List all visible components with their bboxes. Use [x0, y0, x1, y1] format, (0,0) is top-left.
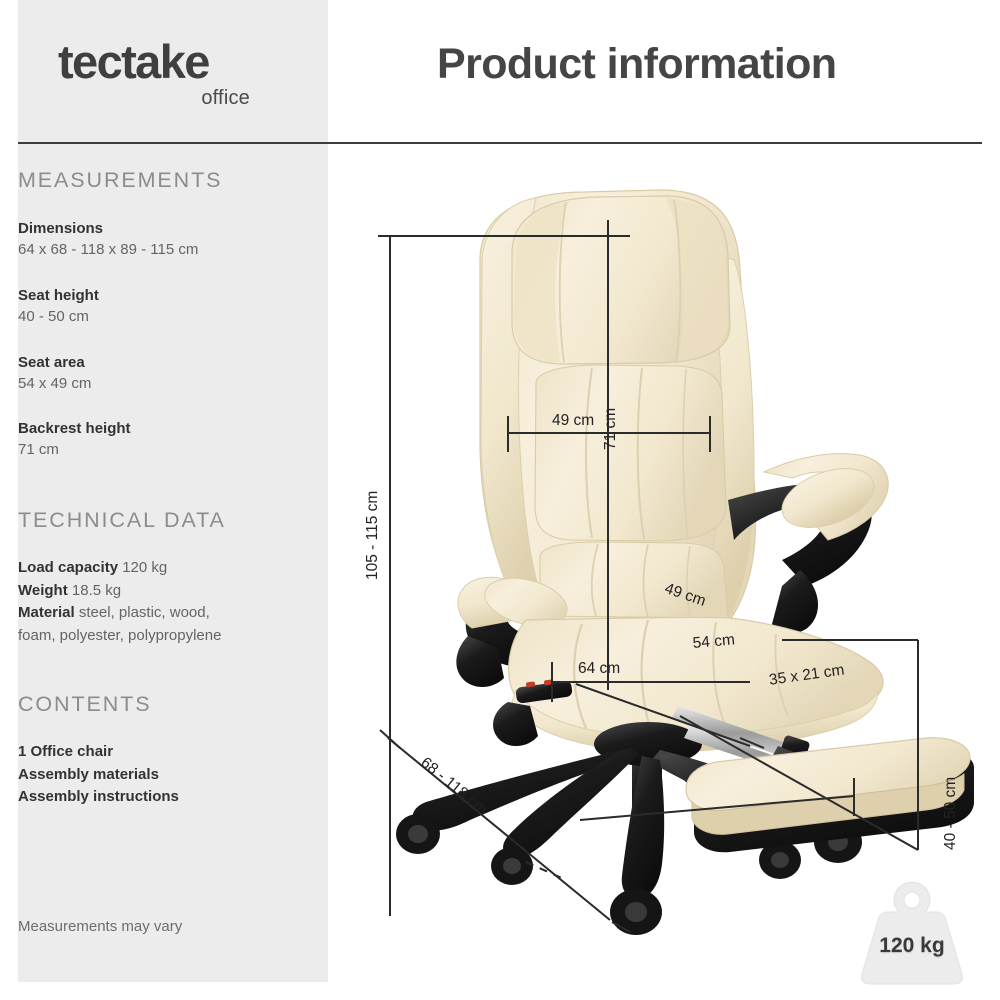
- weight-icon: [852, 878, 972, 986]
- dimension-seat-height: 40 - 50 cm: [942, 777, 960, 850]
- contents-list: 1 Office chair Assembly materials Assemb…: [18, 741, 308, 809]
- dimension-headrest-width: 49 cm: [552, 412, 594, 430]
- measurement-label: Seat height: [18, 285, 308, 306]
- measurement-value: 64 x 68 - 118 x 89 - 115 cm: [18, 239, 308, 260]
- contents-item: 1 Office chair: [18, 741, 308, 764]
- technical-row-material-cont: foam, polyester, polypropylene: [18, 625, 308, 648]
- measurement-backrest-height: Backrest height 71 cm: [18, 418, 308, 460]
- section-heading-technical-data: TECHNICAL DATA: [18, 508, 226, 533]
- section-heading-contents: CONTENTS: [18, 692, 151, 717]
- brand-logo: tectake office: [58, 38, 298, 110]
- dimension-total-height: 105 - 115 cm: [364, 491, 382, 580]
- technical-value: 120 kg: [122, 559, 167, 576]
- technical-row-material: Material steel, plastic, wood,: [18, 602, 308, 625]
- contents-item: Assembly instructions: [18, 786, 308, 809]
- weight-badge: 120 kg: [852, 878, 972, 986]
- measurement-seat-height: Seat height 40 - 50 cm: [18, 285, 308, 327]
- dimension-seat-back-width: 64 cm: [578, 660, 620, 678]
- measurement-seat-area: Seat area 54 x 49 cm: [18, 352, 308, 394]
- measurement-dimensions: Dimensions 64 x 68 - 118 x 89 - 115 cm: [18, 218, 308, 260]
- measurement-label: Backrest height: [18, 418, 308, 439]
- technical-label: Load capacity: [18, 559, 118, 576]
- section-heading-measurements: MEASUREMENTS: [18, 168, 222, 193]
- sidebar-panel: [18, 0, 328, 982]
- measurement-value: 40 - 50 cm: [18, 306, 308, 327]
- product-information-sheet: tectake office Product information MEASU…: [0, 0, 1000, 1000]
- technical-label: Weight: [18, 582, 68, 599]
- technical-value: 18.5 kg: [72, 582, 121, 599]
- technical-data-list: Load capacity 120 kg Weight 18.5 kg Mate…: [18, 557, 308, 647]
- page-title: Product information: [437, 40, 836, 89]
- header-divider: [18, 142, 982, 144]
- brand-sub: office: [58, 87, 250, 110]
- measurement-value: 71 cm: [18, 439, 308, 460]
- measurements-disclaimer: Measurements may vary: [18, 918, 182, 935]
- contents-item: Assembly materials: [18, 764, 308, 787]
- dimension-seat-width: 54 cm: [692, 631, 736, 653]
- brand-name: tectake: [58, 38, 298, 85]
- technical-row-weight: Weight 18.5 kg: [18, 580, 308, 603]
- dimension-lines: [330, 150, 1000, 1000]
- measurement-label: Dimensions: [18, 218, 308, 239]
- measurement-value: 54 x 49 cm: [18, 373, 308, 394]
- technical-row-load-capacity: Load capacity 120 kg: [18, 557, 308, 580]
- technical-value: steel, plastic, wood,: [79, 604, 210, 621]
- product-diagram: 49 cm 71 cm 105 - 115 cm 64 cm 49 cm 54 …: [330, 150, 1000, 1000]
- technical-label: Material: [18, 604, 75, 621]
- dimension-backrest-height: 71 cm: [602, 408, 620, 450]
- measurement-label: Seat area: [18, 352, 308, 373]
- weight-badge-label: 120 kg: [852, 934, 972, 958]
- technical-value: foam, polyester, polypropylene: [18, 627, 221, 644]
